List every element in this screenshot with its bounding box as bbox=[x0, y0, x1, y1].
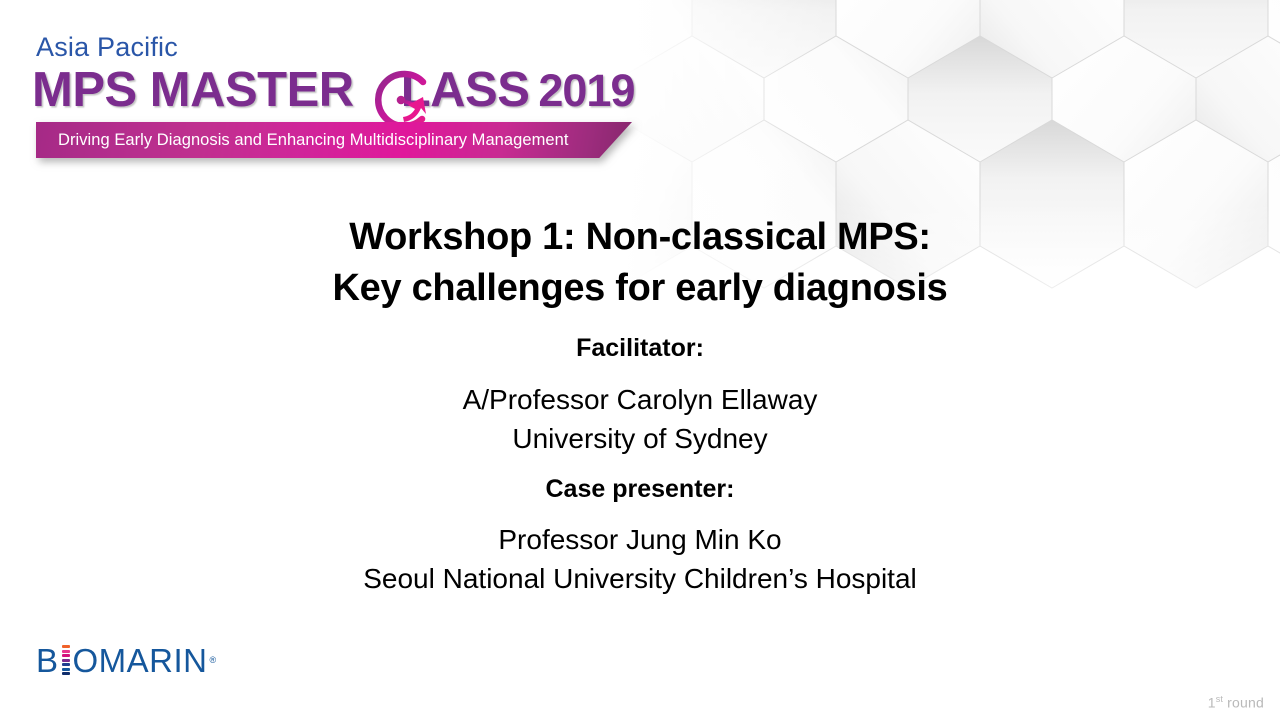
presenter-affiliation: Seoul National University Children’s Hos… bbox=[0, 559, 1280, 598]
round-label: 1st round bbox=[1208, 694, 1264, 711]
logo-region-label: Asia Pacific bbox=[36, 34, 178, 61]
round-ordinal-suffix: st bbox=[1216, 694, 1223, 704]
biomarin-registered-mark: ® bbox=[210, 655, 217, 665]
biomarin-logo-letter-b: B bbox=[36, 644, 59, 677]
spacer-after-facilitator-heading bbox=[0, 363, 1280, 380]
spacer-after-title bbox=[0, 314, 1280, 333]
biomarin-logo-letters-rest: OMARIN bbox=[73, 644, 208, 677]
page-title-line-1: Workshop 1: Non-classical MPS: bbox=[0, 212, 1280, 263]
facilitator-affiliation: University of Sydney bbox=[0, 419, 1280, 458]
presenter-name: Professor Jung Min Ko bbox=[0, 520, 1280, 559]
logo-brand-part1: MPS MASTER bbox=[32, 63, 354, 117]
logo-year: 2019 bbox=[538, 65, 634, 116]
spacer-before-presenter-heading bbox=[0, 458, 1280, 474]
slide-canvas: Asia Pacific MPS MASTERLASS2019 bbox=[0, 0, 1280, 720]
round-number: 1 bbox=[1208, 695, 1216, 711]
presenter-heading: Case presenter: bbox=[0, 474, 1280, 504]
tagline-text: Driving Early Diagnosis and Enhancing Mu… bbox=[58, 122, 568, 158]
page-title-line-2: Key challenges for early diagnosis bbox=[0, 263, 1280, 314]
facilitator-name: A/Professor Carolyn Ellaway bbox=[0, 380, 1280, 419]
dna-stack-icon bbox=[62, 645, 70, 675]
tagline-ribbon: Driving Early Diagnosis and Enhancing Mu… bbox=[36, 122, 632, 158]
biomarin-logo: B OMARIN ® bbox=[36, 643, 216, 677]
logo-brand-text: MPS MASTERLASS2019 bbox=[32, 66, 634, 115]
facilitator-heading: Facilitator: bbox=[0, 333, 1280, 363]
spacer-after-presenter-heading bbox=[0, 504, 1280, 520]
round-word: round bbox=[1223, 695, 1264, 711]
slide-content: Workshop 1: Non-classical MPS: Key chall… bbox=[0, 212, 1280, 598]
